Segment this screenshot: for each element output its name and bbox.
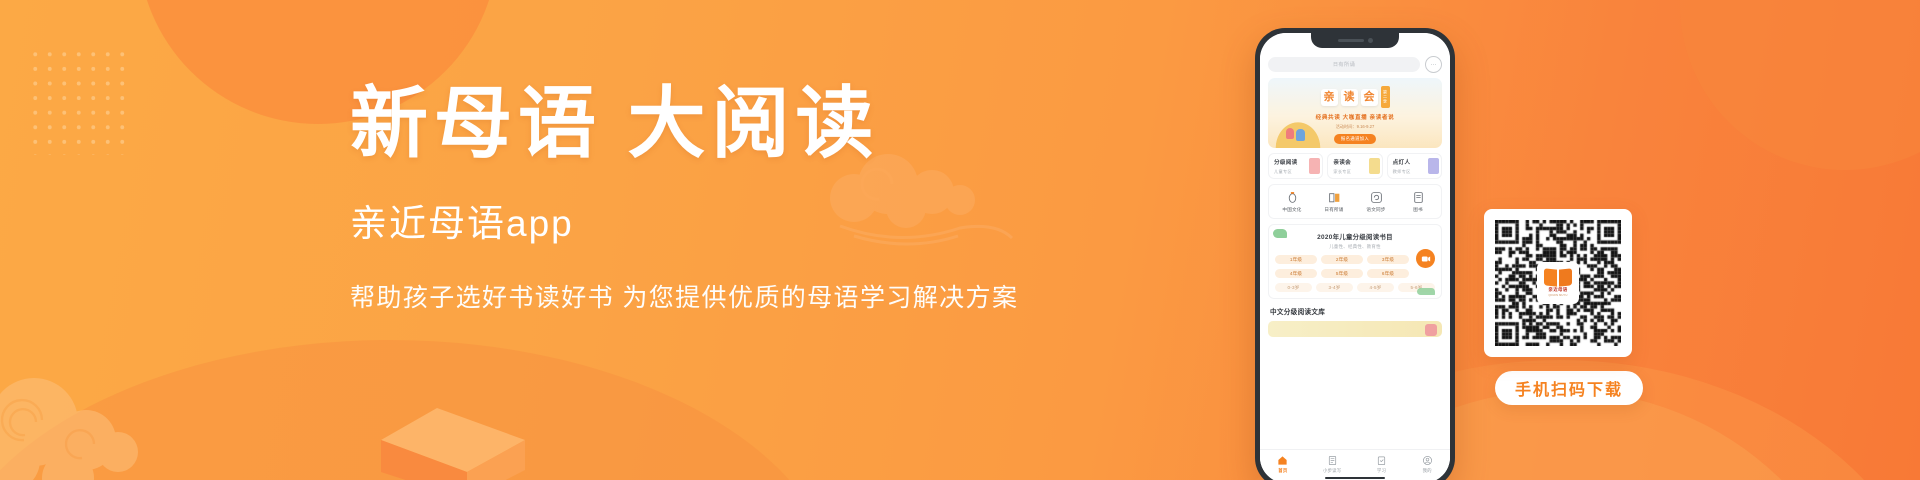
grade-chip-5[interactable]: 6年级	[1367, 269, 1409, 278]
card-decor-icon	[1369, 158, 1380, 174]
promo-char-2: 读	[1341, 89, 1358, 106]
tool-label: 中国文化	[1282, 207, 1301, 213]
category-card-0[interactable]: 分级阅读 儿童专区	[1268, 153, 1323, 179]
booklist-card: 2020年儿童分级阅读书目 儿童性、经典性、教育性 1年级 2年级 3年级 4年…	[1268, 224, 1442, 299]
tool-label: 日有所诵	[1324, 207, 1343, 213]
book-open-icon	[1328, 191, 1341, 204]
home-indicator	[1325, 477, 1385, 480]
banner-tagline: 帮助孩子选好书读好书 为您提供优质的母语学习解决方案	[350, 286, 1070, 311]
tool-label: 图书	[1413, 207, 1423, 213]
tool-item-0[interactable]: 中国文化	[1274, 191, 1310, 213]
decor-leaf-icon	[1417, 288, 1435, 295]
library-banner[interactable]	[1268, 321, 1442, 337]
home-icon	[1277, 455, 1288, 466]
qr-download-block: 亲近母语 QINJIN MUYU 手机扫码下载	[1484, 209, 1654, 405]
decor-cloud-bottom-left	[0, 360, 212, 480]
decor-leaf-icon	[1273, 229, 1287, 238]
age-chip-2[interactable]: 4-5岁	[1357, 283, 1394, 292]
grade-chip-1[interactable]: 2年级	[1321, 255, 1363, 264]
book-icon	[1412, 191, 1425, 204]
tool-item-2[interactable]: 语文同步	[1358, 191, 1394, 213]
qr-logo-title: 亲近母语	[1548, 287, 1567, 293]
promo-char-1: 亲	[1321, 89, 1338, 106]
tab-label: 小步读写	[1323, 468, 1341, 474]
clipboard-icon	[1376, 455, 1387, 466]
refresh-icon	[1370, 191, 1383, 204]
age-chip-1[interactable]: 3-4岁	[1316, 283, 1353, 292]
grade-chip-2[interactable]: 3年级	[1367, 255, 1409, 264]
tab-home[interactable]: 首页	[1277, 455, 1288, 474]
promo-char-3: 会	[1361, 89, 1378, 106]
age-chip-0[interactable]: 0-3岁	[1275, 283, 1312, 292]
tool-item-1[interactable]: 日有所诵	[1316, 191, 1352, 213]
promo-banner: 新母语 大阅读 亲近母语app 帮助孩子选好书读好书 为您提供优质的母语学习解决…	[0, 0, 1920, 480]
tool-item-3[interactable]: 图书	[1400, 191, 1436, 213]
promo-card[interactable]: 亲 读 会 第二季 经典共读 大咖直播 亲读者说 活动时间：9.16-9.27 …	[1268, 78, 1442, 148]
card-decor-icon	[1309, 158, 1320, 174]
decor-cube	[375, 400, 550, 480]
tool-label: 语文同步	[1366, 207, 1385, 213]
qr-code[interactable]: 亲近母语 QINJIN MUYU	[1484, 209, 1632, 357]
promo-subtitle: 经典共读 大咖直播 亲读者说	[1316, 113, 1395, 121]
phone-notch	[1311, 33, 1399, 48]
tab-label: 我的	[1423, 468, 1432, 474]
app-name: 亲近母语app	[350, 205, 1070, 242]
lantern-icon	[1286, 191, 1299, 204]
app-screen: 日有所诵 ··· 亲 读 会 第二季 经典共读 大咖直播 亲读者说 活动时间：9…	[1260, 33, 1450, 480]
tab-label: 首页	[1278, 468, 1287, 474]
promo-date: 活动时间：9.16-9.27	[1336, 124, 1375, 130]
promo-join-button[interactable]: 报名通道加入	[1334, 134, 1376, 144]
qr-center-logo: 亲近母语 QINJIN MUYU	[1539, 264, 1577, 302]
category-cards: 分级阅读 儿童专区 亲读会 家长专区 点灯人 教师专区	[1268, 153, 1442, 179]
page-title: 新母语 大阅读	[350, 85, 1070, 163]
search-input[interactable]: 日有所诵	[1268, 57, 1420, 72]
decor-dot-grid	[26, 45, 130, 155]
tab-reading-writing[interactable]: 小步读写	[1323, 455, 1341, 474]
tab-mine[interactable]: 我的	[1422, 455, 1433, 474]
section-label: 中文分级阅读文库	[1270, 306, 1442, 316]
grade-chip-0[interactable]: 1年级	[1275, 255, 1317, 264]
grade-chip-3[interactable]: 4年级	[1275, 269, 1317, 278]
promo-ribbon: 第二季	[1381, 86, 1390, 108]
category-card-2[interactable]: 点灯人 教师专区	[1387, 153, 1442, 179]
qr-logo-subtitle: QINJIN MUYU	[1548, 294, 1567, 297]
notes-icon	[1327, 455, 1338, 466]
category-card-1[interactable]: 亲读会 家长专区	[1327, 153, 1382, 179]
user-icon	[1422, 455, 1433, 466]
booklist-title: 2020年儿童分级阅读书目	[1275, 232, 1435, 241]
decor-circle-top-right	[1680, 0, 1920, 170]
phone-mockup: 日有所诵 ··· 亲 读 会 第二季 经典共读 大咖直播 亲读者说 活动时间：9…	[1255, 28, 1455, 480]
booklist-subtitle: 儿童性、经典性、教育性	[1275, 244, 1435, 250]
message-icon[interactable]: ···	[1425, 56, 1442, 73]
scan-download-button[interactable]: 手机扫码下载	[1495, 371, 1643, 405]
tab-label: 学习	[1377, 468, 1386, 474]
card-decor-icon	[1428, 158, 1439, 174]
banner-copy: 新母语 大阅读 亲近母语app 帮助孩子选好书读好书 为您提供优质的母语学习解决…	[350, 85, 1070, 311]
grade-chip-4[interactable]: 5年级	[1321, 269, 1363, 278]
tab-study[interactable]: 学习	[1376, 455, 1387, 474]
decor-kids-illustration	[1272, 118, 1324, 148]
quick-tools: 中国文化 日有所诵 语文同步	[1268, 184, 1442, 219]
play-video-icon[interactable]	[1416, 249, 1435, 268]
bottom-tab-bar: 首页 小步读写 学习	[1260, 449, 1450, 480]
